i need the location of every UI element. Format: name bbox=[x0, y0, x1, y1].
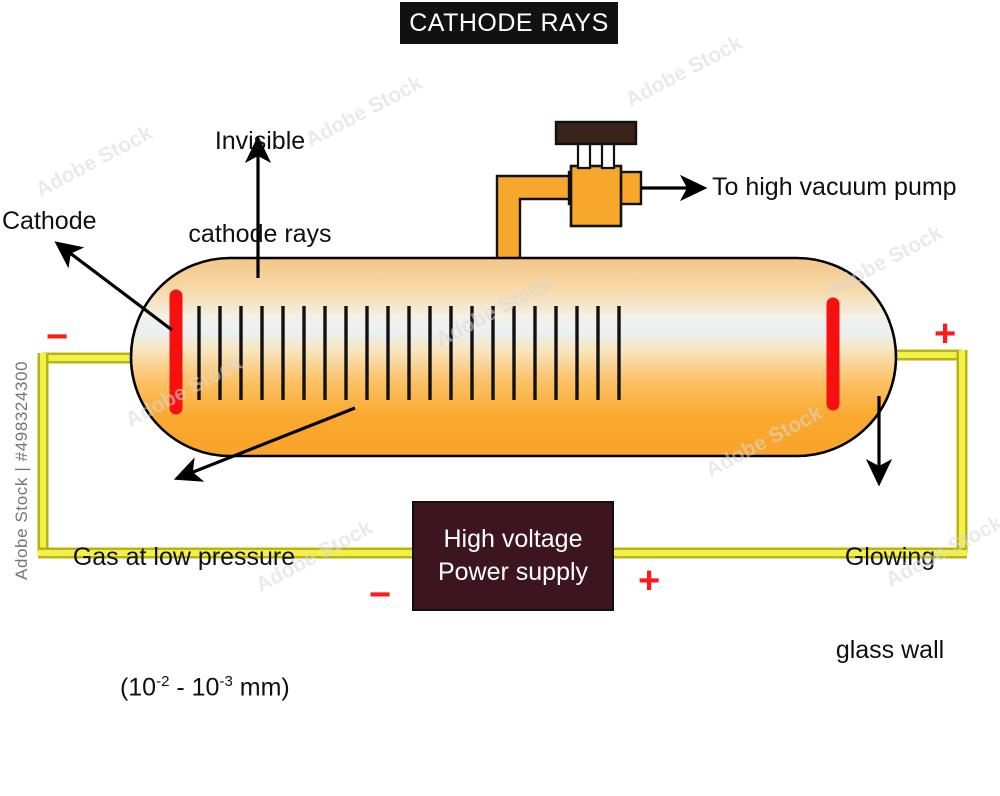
gas-exponent-2: -3 bbox=[219, 673, 232, 690]
polarity-sign-supply-plus: + bbox=[638, 562, 660, 600]
vacuum-pump-assembly bbox=[497, 122, 641, 262]
stock-credit-watermark: Adobe Stock | #498324300 bbox=[12, 320, 32, 580]
arrow-cathode bbox=[58, 244, 172, 330]
gas-exponent-1: -2 bbox=[156, 673, 169, 690]
label-invisible-cathode-rays: Invisible cathode rays bbox=[160, 64, 360, 312]
label-cathode: Cathode bbox=[2, 206, 97, 237]
label-invisible-rays-line2: cathode rays bbox=[160, 219, 360, 250]
label-gas-pressure: Gas at low pressure (10-2 - 10-3 mm) bbox=[48, 480, 320, 796]
label-invisible-rays-line1: Invisible bbox=[160, 126, 360, 157]
gas-mid: - 10 bbox=[169, 673, 219, 701]
high-voltage-power-supply[interactable]: High voltage Power supply bbox=[412, 501, 614, 611]
label-glowing-line1: Glowing bbox=[800, 542, 980, 573]
label-gas-line1: Gas at low pressure bbox=[48, 542, 320, 573]
page-title: CATHODE RAYS bbox=[409, 9, 609, 38]
title-banner: CATHODE RAYS bbox=[400, 2, 618, 44]
label-vacuum-pump: To high vacuum pump bbox=[712, 172, 957, 203]
cathode-ray-lines bbox=[199, 306, 619, 400]
polarity-sign-supply-minus: − bbox=[369, 576, 391, 614]
label-glowing-glass-wall: Glowing glass wall bbox=[800, 480, 980, 728]
gas-prefix: (10 bbox=[120, 673, 156, 701]
polarity-sign-anode-plus: + bbox=[934, 315, 956, 353]
diagram-canvas: CATHODE RAYS Invisible cathode rays Cath… bbox=[0, 0, 1000, 611]
label-glowing-line2: glass wall bbox=[800, 635, 980, 666]
polarity-sign-cathode-minus: − bbox=[46, 318, 68, 356]
gas-suffix: mm) bbox=[233, 673, 290, 701]
power-supply-line1: High voltage bbox=[444, 523, 583, 556]
label-gas-line2: (10-2 - 10-3 mm) bbox=[48, 635, 320, 734]
power-supply-line2: Power supply bbox=[438, 556, 588, 589]
